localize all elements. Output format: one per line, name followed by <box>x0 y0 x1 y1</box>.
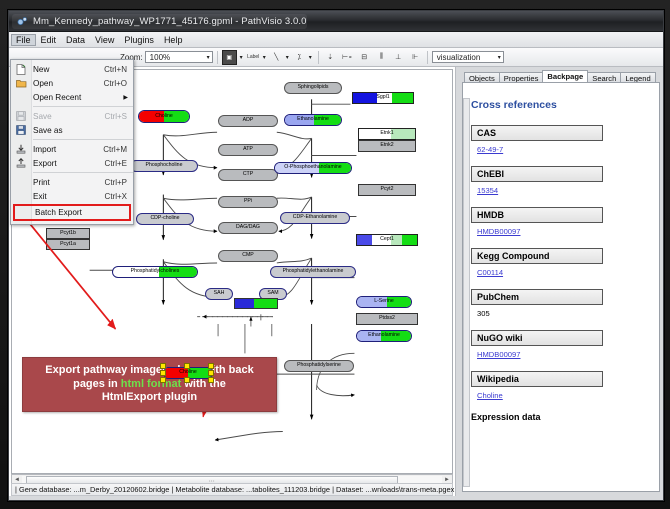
xref-value-kegg[interactable]: C00114 <box>477 268 651 277</box>
save-as-icon <box>14 124 28 136</box>
chevron-down-icon-2: ▾ <box>498 54 501 61</box>
align-left-icon[interactable]: ⊢∘ <box>340 51 355 64</box>
status-text: | Gene database: ...m_Derby_20120602.bri… <box>15 485 454 494</box>
annotation-callout: Export pathway images along with back pa… <box>22 357 277 412</box>
menu-item-accel: Ctrl+O <box>104 79 133 88</box>
label-tool-icon[interactable]: Label <box>247 51 260 64</box>
xref-link-cas[interactable]: 62-49-7 <box>477 145 503 154</box>
menu-item-accel: Ctrl+P <box>105 178 133 187</box>
cross-references-heading: Cross references <box>471 99 651 111</box>
menu-item-accel: Ctrl+X <box>105 192 133 201</box>
menu-item-label: Open Recent <box>33 93 133 102</box>
tab-backpage[interactable]: Backpage <box>542 70 588 82</box>
xref-link-hmdb[interactable]: HMDB00097 <box>477 227 520 236</box>
menu-item-save: Save Ctrl+S <box>11 109 133 123</box>
align-center-icon[interactable]: ⊟ <box>357 51 372 64</box>
xref-link-chebi[interactable]: 15354 <box>477 186 498 195</box>
tab-objects[interactable]: Objects <box>464 72 500 82</box>
menu-item-accel: Ctrl+S <box>105 112 133 121</box>
backpage-vertical-scrollbar[interactable] <box>463 98 470 487</box>
backpage-content[interactable]: Cross references CAS 62-49-7 ChEBI 15354… <box>462 82 660 492</box>
zoom-value: 100% <box>150 53 170 62</box>
visualization-combobox[interactable]: visualization ▾ <box>432 51 504 63</box>
xref-header-hmdb: HMDB <box>471 207 603 223</box>
menu-item-label: Batch Export <box>35 208 129 217</box>
line-dropdown-icon[interactable]: ▾ <box>286 54 289 61</box>
menu-item-new[interactable]: New Ctrl+N <box>11 62 133 76</box>
zoom-combobox[interactable]: 100% ▾ <box>145 51 213 63</box>
menu-item-accel: Ctrl+E <box>105 159 133 168</box>
export-icon <box>14 157 28 169</box>
xref-value-chebi[interactable]: 15354 <box>477 186 651 195</box>
menu-item-export[interactable]: Export Ctrl+E <box>11 156 133 170</box>
toolbar-separator-3 <box>427 51 428 64</box>
xref-link-nugo[interactable]: HMDB00097 <box>477 350 520 359</box>
menu-item-open[interactable]: Open Ctrl+O <box>11 76 133 90</box>
distribute-icon[interactable]: ⫼ <box>374 51 389 64</box>
annot-line1: Export pathway images along with back <box>45 364 253 376</box>
menu-item-import[interactable]: Import Ctrl+M <box>11 142 133 156</box>
interaction-tool-icon[interactable]: ⁒ <box>293 51 306 64</box>
xref-header-cas: CAS <box>471 125 603 141</box>
title-bar: Mm_Kennedy_pathway_WP1771_45176.gpml - P… <box>9 11 663 32</box>
xref-value-hmdb[interactable]: HMDB00097 <box>477 227 651 236</box>
menu-view[interactable]: View <box>90 34 119 46</box>
node-pemt-gene[interactable] <box>234 298 278 309</box>
pathvisio-window: Mm_Kennedy_pathway_WP1771_45176.gpml - P… <box>8 10 664 501</box>
xref-link-kegg[interactable]: C00114 <box>477 268 503 277</box>
menu-item-label: Print <box>33 178 105 187</box>
menu-item-label: Exit <box>33 192 105 201</box>
label-dropdown-icon[interactable]: ▾ <box>263 54 266 61</box>
menu-item-label: Save as <box>33 126 127 135</box>
node-sah[interactable]: SAH <box>205 288 233 300</box>
menu-separator-3 <box>33 172 133 173</box>
stack-icon[interactable]: ⊥ <box>391 51 406 64</box>
menu-item-print[interactable]: Print Ctrl+P <box>11 175 133 189</box>
menu-plugins[interactable]: Plugins <box>119 34 159 46</box>
menu-item-accel: Ctrl+M <box>103 145 133 154</box>
desktop-background: Mm_Kennedy_pathway_WP1771_45176.gpml - P… <box>0 0 670 509</box>
new-file-icon <box>14 63 28 75</box>
open-folder-icon <box>14 77 28 89</box>
selection-handles[interactable] <box>160 363 216 383</box>
save-icon <box>14 110 28 122</box>
annot-line2a: pages in <box>73 378 121 390</box>
toolbar-separator <box>217 51 218 64</box>
xref-header-kegg: Kegg Compound <box>471 248 603 264</box>
status-bar: | Gene database: ...m_Derby_20120602.bri… <box>11 483 453 496</box>
group-icon[interactable]: ⊩ <box>408 51 423 64</box>
xref-value-pubchem: 305 <box>477 309 651 318</box>
toolbar-separator-2 <box>318 51 319 64</box>
shape-tool-icon[interactable]: ▣ <box>222 50 237 65</box>
tab-search[interactable]: Search <box>587 72 621 82</box>
menu-separator-1 <box>33 106 133 107</box>
visualization-value: visualization <box>437 53 481 62</box>
annot-line3: HtmlExport plugin <box>102 391 197 403</box>
side-panel: Objects Properties Backpage Search Legen… <box>456 67 663 496</box>
tab-legend[interactable]: Legend <box>620 72 655 82</box>
interaction-dropdown-icon[interactable]: ▾ <box>309 54 312 61</box>
xref-header-chebi: ChEBI <box>471 166 603 182</box>
menu-item-accel: Ctrl+N <box>104 65 133 74</box>
tab-properties[interactable]: Properties <box>499 72 544 82</box>
xref-header-wikipedia: Wikipedia <box>471 371 603 387</box>
window-title: Mm_Kennedy_pathway_WP1771_45176.gpml - P… <box>33 16 307 27</box>
menu-item-batch-export[interactable]: Batch Export <box>13 204 131 221</box>
menu-file[interactable]: File <box>11 34 36 46</box>
menu-bar[interactable]: File Edit Data View Plugins Help <box>9 32 663 48</box>
menu-item-exit[interactable]: Exit Ctrl+X <box>11 189 133 203</box>
xref-link-wikipedia[interactable]: Choline <box>477 391 503 400</box>
menu-item-save-as[interactable]: Save as <box>11 123 133 137</box>
node-label: SAH <box>214 291 225 296</box>
menu-item-label: Export <box>33 159 105 168</box>
file-menu-popup[interactable]: New Ctrl+N Open Ctrl+O Open Recent ▶ Sav… <box>10 59 134 225</box>
menu-item-open-recent[interactable]: Open Recent ▶ <box>11 90 133 104</box>
node-label: SAM <box>267 291 278 296</box>
xref-header-nugo: NuGO wiki <box>471 330 603 346</box>
chevron-right-icon: ▶ <box>123 94 128 101</box>
xref-value-cas[interactable]: 62-49-7 <box>477 145 651 154</box>
menu-item-label: Open <box>33 79 104 88</box>
menu-item-label: New <box>33 65 104 74</box>
import-icon <box>14 143 28 155</box>
menu-item-label: Save <box>33 112 105 121</box>
xref-value-wikipedia[interactable]: Choline <box>477 391 651 400</box>
xref-header-pubchem: PubChem <box>471 289 603 305</box>
chevron-down-icon: ▾ <box>207 54 210 61</box>
menu-item-label: Import <box>33 145 103 154</box>
xref-value-nugo[interactable]: HMDB00097 <box>477 350 651 359</box>
expression-data-heading: Expression data <box>471 412 651 422</box>
menu-help[interactable]: Help <box>159 34 188 46</box>
pathvisio-app-icon <box>17 16 28 27</box>
shape-dropdown-icon[interactable]: ▾ <box>240 54 243 61</box>
menu-separator-2 <box>33 139 133 140</box>
line-tool-icon[interactable]: ╲ <box>270 51 283 64</box>
menu-data[interactable]: Data <box>61 34 90 46</box>
side-panel-tabs[interactable]: Objects Properties Backpage Search Legen… <box>456 69 663 82</box>
menu-edit[interactable]: Edit <box>36 34 62 46</box>
align-top-icon[interactable]: ⇣ <box>323 51 338 64</box>
